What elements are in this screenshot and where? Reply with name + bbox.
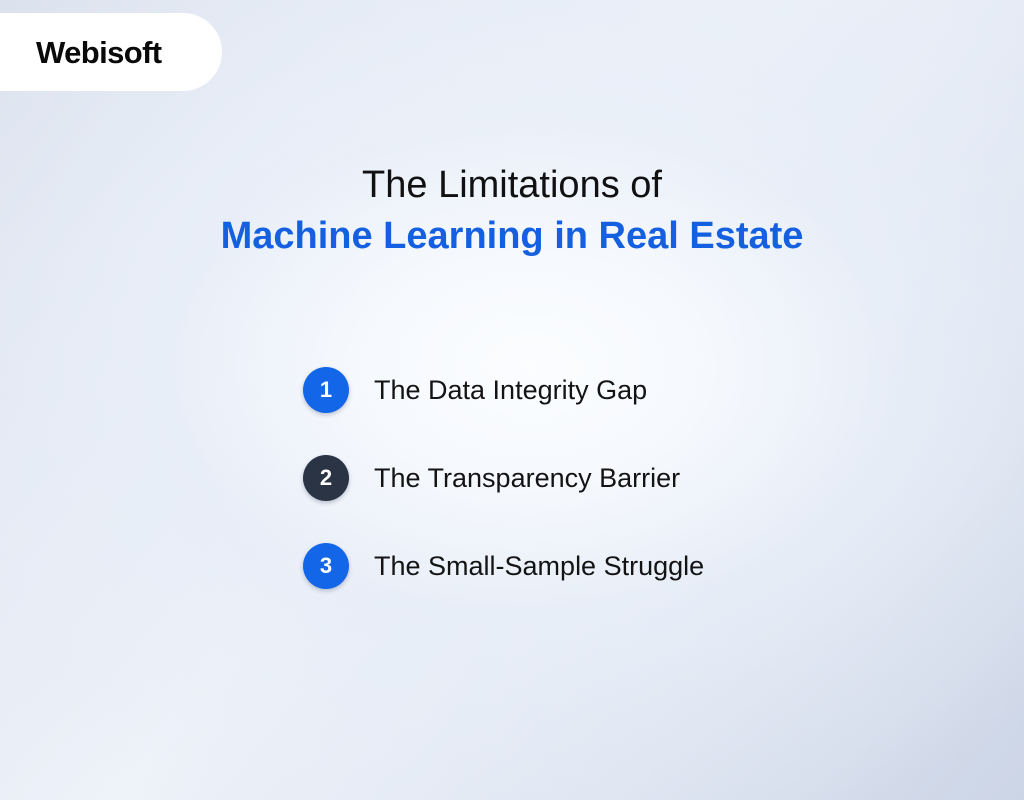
list-item: 3 The Small-Sample Struggle <box>303 543 943 589</box>
brand-logo-pill: Webisoft <box>0 13 222 91</box>
title-line-highlight: Machine Learning in Real Estate <box>0 210 1024 262</box>
page-title: The Limitations of Machine Learning in R… <box>0 160 1024 262</box>
point-number-badge: 1 <box>303 367 349 413</box>
point-label: The Small-Sample Struggle <box>374 550 704 582</box>
list-item: 2 The Transparency Barrier <box>303 455 943 501</box>
point-number-badge: 2 <box>303 455 349 501</box>
slide-canvas: Webisoft The Limitations of Machine Lear… <box>0 0 1024 800</box>
brand-wordmark: Webisoft <box>36 37 162 68</box>
point-label: The Data Integrity Gap <box>374 374 647 406</box>
list-item: 1 The Data Integrity Gap <box>303 367 943 413</box>
point-number-badge: 3 <box>303 543 349 589</box>
point-label: The Transparency Barrier <box>374 462 680 494</box>
title-line-primary: The Limitations of <box>0 160 1024 210</box>
numbered-points-list: 1 The Data Integrity Gap 2 The Transpare… <box>303 367 943 631</box>
